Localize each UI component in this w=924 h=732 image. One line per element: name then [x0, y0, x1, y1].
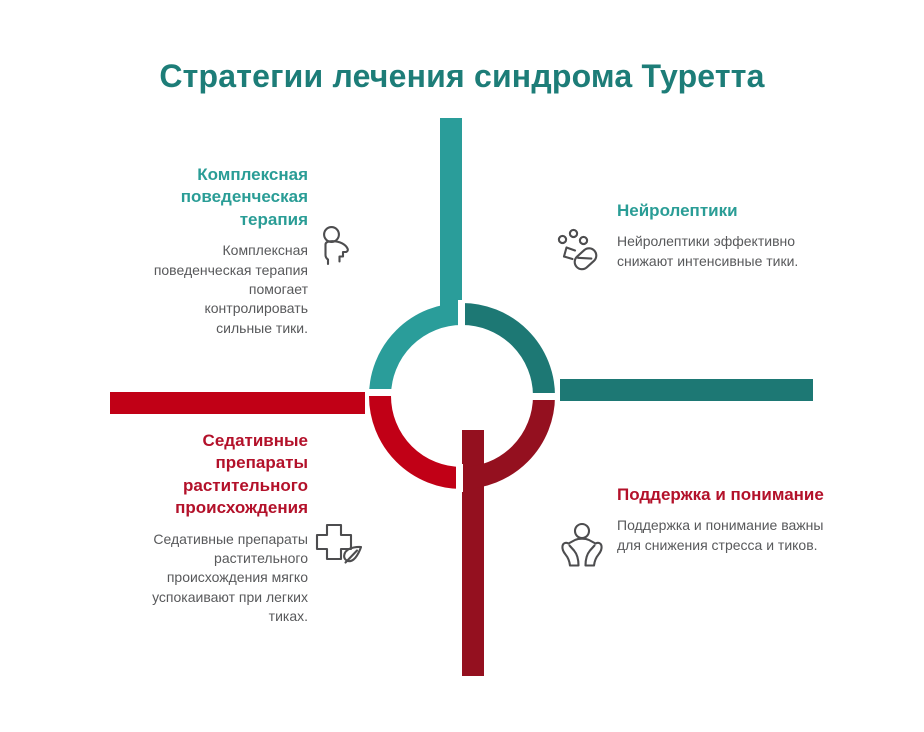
infographic-canvas: Стратегии лечения синдрома Туретта: [0, 0, 924, 732]
quadrant-block-neuroleptics: Нейролептики Нейролептики эффективно сни…: [617, 200, 807, 271]
ring-gap-bottom: [456, 464, 463, 492]
quadrant-block-sedatives: Седативные препараты растительного проис…: [139, 430, 308, 626]
quadrant-block-cbt: Комплексная поведенческая терапия Компле…: [145, 164, 308, 338]
cross-leaf-icon: [311, 521, 367, 569]
connector-top-stem: [440, 118, 462, 308]
ring-gap-top: [458, 300, 465, 328]
ring-gap-left: [366, 389, 394, 396]
quadrant-heading-support: Поддержка и понимание: [617, 484, 827, 506]
quadrant-body-neuroleptics: Нейролептики эффективно снижают интенсив…: [617, 232, 807, 271]
connector-left-stem: [110, 392, 365, 414]
ring-arc-top-left: [380, 314, 462, 396]
quadrant-heading-cbt: Комплексная поведенческая терапия: [145, 164, 308, 231]
ring-arc-bottom-left: [380, 396, 462, 478]
supporting-hands-icon: [556, 521, 608, 573]
quadrant-body-support: Поддержка и понимание важны для снижения…: [617, 516, 827, 555]
ring-gap-right: [530, 393, 558, 400]
mind-head-icon: [311, 223, 359, 271]
ring-arc-top-right: [462, 314, 544, 396]
connector-right-stem: [560, 379, 813, 401]
quadrant-body-sedatives: Седативные препараты растительного проис…: [139, 530, 308, 627]
quadrant-heading-neuroleptics: Нейролептики: [617, 200, 807, 222]
quadrant-block-support: Поддержка и понимание Поддержка и понима…: [617, 484, 827, 555]
quadrant-heading-sedatives: Седативные препараты растительного проис…: [139, 430, 308, 520]
quadrant-body-cbt: Комплексная поведенческая терапия помога…: [145, 241, 308, 338]
pills-capsule-icon: [553, 226, 603, 276]
